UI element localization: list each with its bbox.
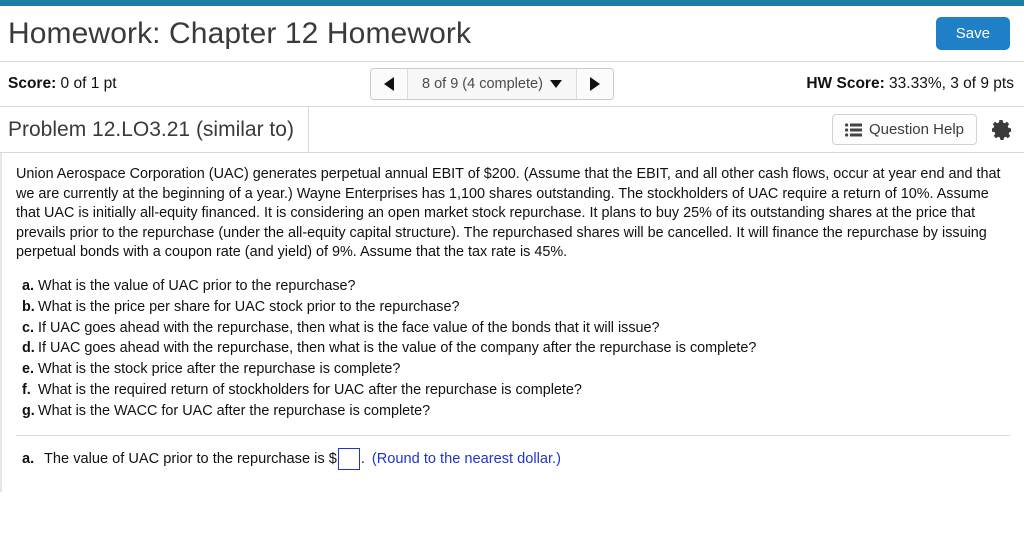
page-title: Homework: Chapter 12 Homework (8, 17, 471, 51)
question-letter: a. (16, 277, 38, 297)
list-item: g. What is the WACC for UAC after the re… (16, 402, 1010, 422)
list-item: a. What is the value of UAC prior to the… (16, 277, 1010, 297)
question-letter: g. (16, 402, 38, 422)
answer-row: a. The value of UAC prior to the repurch… (16, 448, 1010, 470)
list-item: f. What is the required return of stockh… (16, 381, 1010, 401)
list-icon (845, 123, 862, 137)
problem-bar: Problem 12.LO3.21 (similar to) Question … (0, 107, 1024, 153)
previous-question-button[interactable] (371, 69, 408, 99)
score-display: Score: 0 of 1 pt (8, 75, 117, 93)
question-select-dropdown[interactable]: 8 of 9 (4 complete) (408, 69, 576, 99)
question-text: What is the WACC for UAC after the repur… (38, 402, 1010, 422)
list-item: c. If UAC goes ahead with the repurchase… (16, 319, 1010, 339)
list-item: e. What is the stock price after the rep… (16, 360, 1010, 380)
list-item: b. What is the price per share for UAC s… (16, 298, 1010, 318)
triangle-right-icon (590, 77, 600, 91)
answer-letter: a. (22, 451, 44, 467)
question-text: What is the stock price after the repurc… (38, 360, 1010, 380)
problem-title-divider (308, 107, 309, 152)
answer-input[interactable] (338, 448, 360, 470)
question-text: What is the value of UAC prior to the re… (38, 277, 1010, 297)
question-navigator: 8 of 9 (4 complete) (370, 68, 614, 100)
question-help-button[interactable]: Question Help (832, 114, 977, 145)
hw-score-display: HW Score: 33.33%, 3 of 9 pts (806, 75, 1014, 93)
problem-content: Union Aerospace Corporation (UAC) genera… (0, 153, 1024, 492)
score-bar: Score: 0 of 1 pt 8 of 9 (4 complete) HW … (0, 62, 1024, 107)
question-text: What is the price per share for UAC stoc… (38, 298, 1010, 318)
question-letter: e. (16, 360, 38, 380)
gear-icon[interactable] (990, 118, 1014, 142)
problem-prompt: Union Aerospace Corporation (UAC) genera… (16, 165, 1006, 263)
question-text: What is the required return of stockhold… (38, 381, 1010, 401)
question-help-label: Question Help (869, 121, 964, 138)
list-item: d. If UAC goes ahead with the repurchase… (16, 339, 1010, 359)
answer-prompt-text: The value of UAC prior to the repurchase… (44, 451, 337, 467)
question-letter: f. (16, 381, 38, 401)
score-label: Score: (8, 75, 56, 92)
question-list: a. What is the value of UAC prior to the… (16, 277, 1010, 422)
question-letter: d. (16, 339, 38, 359)
triangle-left-icon (384, 77, 394, 91)
question-select-label: 8 of 9 (4 complete) (422, 76, 543, 92)
header-bar: Homework: Chapter 12 Homework Save (0, 6, 1024, 62)
next-question-button[interactable] (576, 69, 613, 99)
problem-title: Problem 12.LO3.21 (similar to) (8, 118, 308, 142)
problem-bar-actions: Question Help (832, 114, 1014, 145)
hw-score-label: HW Score: (806, 75, 884, 92)
save-button[interactable]: Save (936, 17, 1010, 50)
hw-score-value: 33.33%, 3 of 9 pts (885, 75, 1014, 92)
score-value: 0 of 1 pt (56, 75, 116, 92)
question-letter: c. (16, 319, 38, 339)
question-text: If UAC goes ahead with the repurchase, t… (38, 319, 1010, 339)
question-text: If UAC goes ahead with the repurchase, t… (38, 339, 1010, 359)
question-letter: b. (16, 298, 38, 318)
answer-separator (16, 435, 1010, 436)
answer-rounding-hint: (Round to the nearest dollar.) (365, 451, 561, 467)
caret-down-icon (550, 80, 562, 88)
